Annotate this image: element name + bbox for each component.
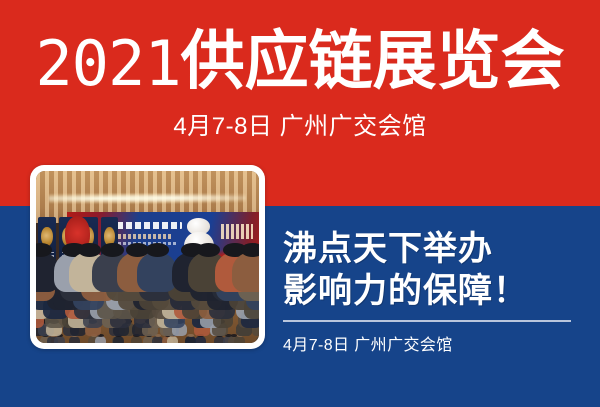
photo-stage-subline-1: [113, 234, 171, 238]
promo-date: 4月7-8日 广州广交会馆: [283, 331, 583, 355]
promo-line-1: 沸点天下举办: [283, 228, 583, 270]
photo-crowd-figure-head: [241, 243, 259, 257]
promo-text-block: 沸点天下举办 影响力的保障！ 4月7-8日 广州广交会馆: [283, 228, 583, 355]
banner-subtitle: 4月7-8日 广州广交会馆: [0, 106, 600, 141]
photo-crowd-figure-head: [78, 243, 101, 257]
event-photo: [36, 171, 259, 343]
photo-crowd-figure-head: [188, 334, 194, 337]
photo-crowd: [36, 240, 259, 343]
promo-banner: 2021供应链展览会 4月7-8日 广州广交会馆: [0, 0, 600, 407]
banner-title-text: 供应链展览会: [181, 25, 565, 99]
photo-stage-headline: [117, 222, 182, 229]
promo-line-2: 影响力的保障！: [283, 270, 583, 312]
event-photo-card: [30, 165, 265, 349]
photo-crowd-figure: [256, 336, 259, 343]
photo-crowd-figure-head: [197, 243, 220, 257]
photo-crowd-figure: [232, 252, 259, 292]
photo-crowd-figure: [137, 252, 177, 292]
banner-title: 2021供应链展览会: [0, 30, 600, 95]
promo-divider: [283, 320, 571, 322]
banner-title-year: 2021: [35, 27, 180, 100]
photo-stage-side-text: [221, 224, 254, 239]
